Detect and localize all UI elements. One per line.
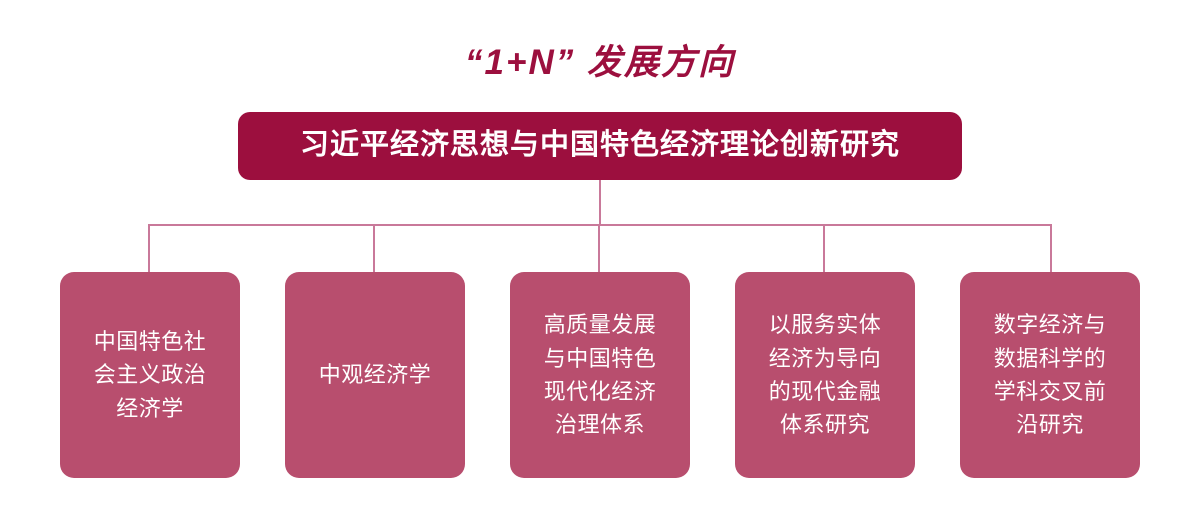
root-node: 习近平经济思想与中国特色经济理论创新研究 — [238, 112, 962, 180]
org-chart-diagram: “1+N” 发展方向 习近平经济思想与中国特色经济理论创新研究 中国特色社 会主… — [0, 0, 1200, 520]
branch-node-5: 数字经济与 数据科学的 学科交叉前 沿研究 — [960, 272, 1140, 478]
branch-node-5-label: 数字经济与 数据科学的 学科交叉前 沿研究 — [994, 308, 1107, 442]
branch-node-2-label: 中观经济学 — [319, 358, 432, 391]
connector-trunk-vertical — [599, 180, 601, 226]
root-node-label: 习近平经济思想与中国特色经济理论创新研究 — [300, 130, 900, 162]
branch-node-3-label: 高质量发展 与中国特色 现代化经济 治理体系 — [544, 308, 657, 442]
branch-node-2: 中观经济学 — [285, 272, 465, 478]
branch-node-1: 中国特色社 会主义政治 经济学 — [60, 272, 240, 478]
connector-bus-horizontal — [148, 224, 1052, 226]
branch-node-4-label: 以服务实体 经济为导向 的现代金融 体系研究 — [769, 308, 882, 442]
branch-node-1-label: 中国特色社 会主义政治 经济学 — [94, 325, 207, 425]
connector-drop-4 — [823, 224, 825, 272]
connector-drop-2 — [373, 224, 375, 272]
branch-node-4: 以服务实体 经济为导向 的现代金融 体系研究 — [735, 272, 915, 478]
page-title: “1+N” 发展方向 — [0, 34, 1200, 85]
connector-drop-3 — [598, 224, 600, 272]
connector-drop-1 — [148, 224, 150, 272]
branch-node-3: 高质量发展 与中国特色 现代化经济 治理体系 — [510, 272, 690, 478]
connector-drop-5 — [1050, 224, 1052, 272]
